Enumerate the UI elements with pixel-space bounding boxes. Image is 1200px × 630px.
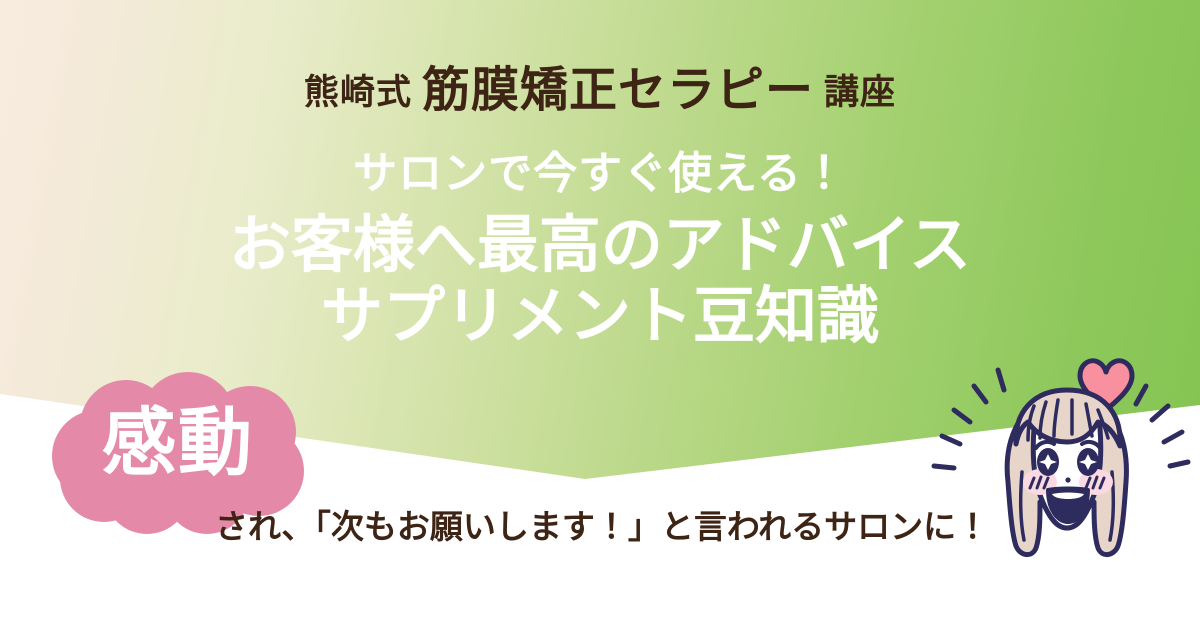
hero-headline-line-1: お客様へ最高のアドバイス (0, 213, 1200, 280)
kicker-main: 筋膜矯正セラピー (422, 64, 814, 117)
course-kicker: 熊崎式筋膜矯正セラピー講座 (0, 67, 1200, 115)
illustration-smiling-woman (930, 332, 1200, 582)
nose (1065, 477, 1070, 482)
emphasis-lines-right (1136, 386, 1188, 466)
hero-subtitle: サロンで今すぐ使える！ (0, 150, 1200, 198)
emphasis-lines-left (934, 370, 1004, 468)
tagline: され、「次もお願いします！」と言われるサロンに！ (215, 500, 989, 548)
promo-banner: 熊崎式筋膜矯正セラピー講座 サロンで今すぐ使える！ お客様へ最高のアドバイス サ… (0, 0, 1200, 630)
kicker-suffix: 講座 (824, 73, 896, 112)
badge-label: 感動 (52, 406, 304, 480)
kicker-prefix: 熊崎式 (304, 73, 412, 112)
